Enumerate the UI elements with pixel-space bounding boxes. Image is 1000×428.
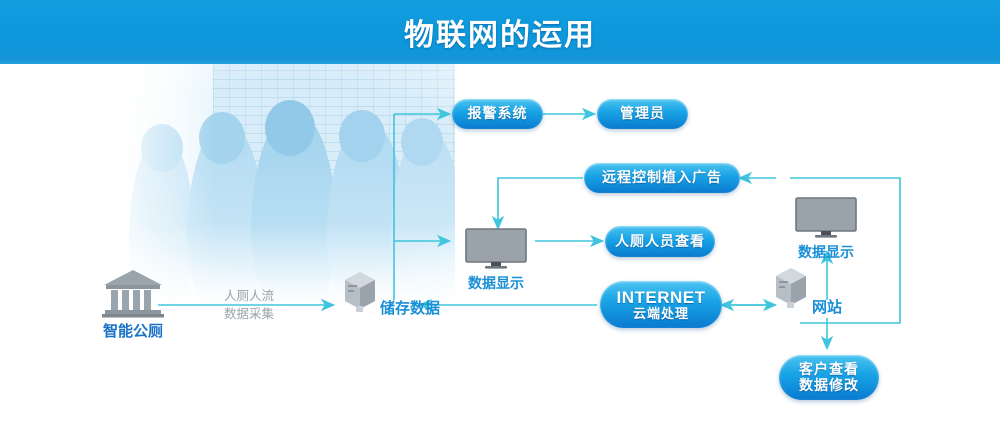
edge-label-line2: 数据采集 <box>224 307 274 321</box>
edge-label-data-collection: 人厕人流 数据采集 <box>206 287 292 323</box>
pill-label-administrator: 管理员 <box>620 106 665 122</box>
bank-building-icon <box>101 268 165 318</box>
pill-internet-cloud[interactable]: INTERNET 云端处理 <box>600 281 722 328</box>
pill-remote-control-ad[interactable]: 远程控制植入广告 <box>584 163 740 193</box>
monitor-icon <box>465 228 527 270</box>
node-store-data[interactable] <box>341 270 379 312</box>
server-box-icon <box>772 266 810 308</box>
node-label-website: 网站 <box>812 296 842 317</box>
pill-administrator[interactable]: 管理员 <box>597 99 688 129</box>
pill-label-cloud-processing: 云端处理 <box>633 307 689 322</box>
pill-label-customer-edit: 数据修改 <box>799 378 859 394</box>
pill-label-customer-view: 客户查看 <box>799 362 859 378</box>
node-website[interactable] <box>772 266 810 308</box>
pill-label-alarm-system: 报警系统 <box>468 106 528 122</box>
pill-label-remote-control-ad: 远程控制植入广告 <box>602 170 722 186</box>
iot-diagram-page: 物联网的运用 <box>0 0 1000 428</box>
node-data-display-right[interactable]: 数据显示 <box>795 197 857 262</box>
node-label-smart-toilet: 智能公厕 <box>103 320 163 341</box>
monitor-icon <box>795 197 857 239</box>
pill-label-internet: INTERNET <box>617 288 706 307</box>
server-box-icon <box>341 270 379 312</box>
node-label-data-display-left: 数据显示 <box>468 273 524 293</box>
edge-label-line1: 人厕人流 <box>224 289 274 303</box>
pill-label-toilet-staff-view: 人厕人员查看 <box>615 234 705 250</box>
node-smart-toilet[interactable]: 智能公厕 <box>101 268 165 341</box>
pill-toilet-staff-view[interactable]: 人厕人员查看 <box>605 226 715 257</box>
node-label-store-data: 储存数据 <box>380 297 440 318</box>
pill-alarm-system[interactable]: 报警系统 <box>452 99 543 129</box>
pill-customer-view-edit[interactable]: 客户查看 数据修改 <box>779 355 879 400</box>
node-label-data-display-right: 数据显示 <box>798 242 854 262</box>
node-data-display-left[interactable]: 数据显示 <box>465 228 527 293</box>
